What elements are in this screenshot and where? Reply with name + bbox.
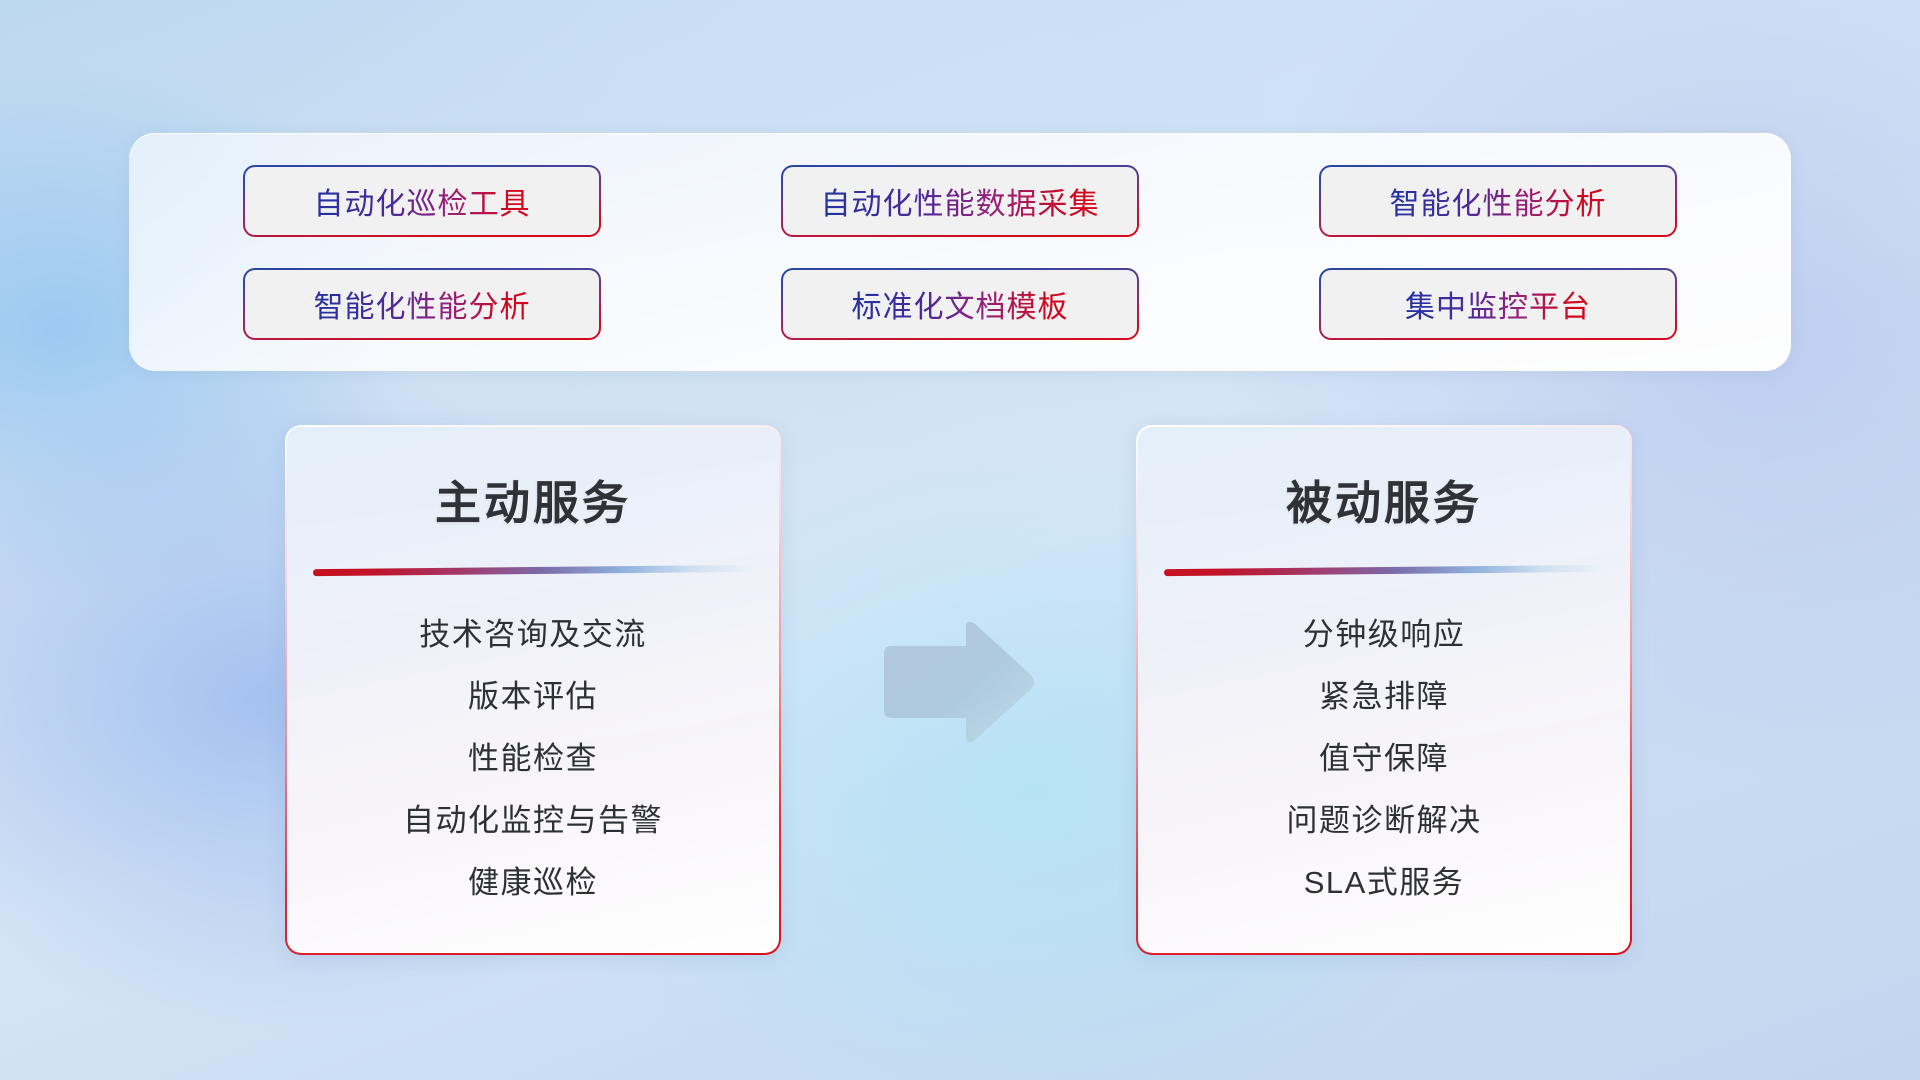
service-card-active: 主动服务 技术咨询及交流 版本评估 性能检查 自动化监控与告警 健康巡检 xyxy=(285,425,781,955)
capability-tag-label: 自动化性能数据采集 xyxy=(821,179,1100,223)
capability-tag-centralized-monitoring-platform[interactable]: 集中监控平台 xyxy=(1319,268,1677,340)
capability-panel: 自动化巡检工具 自动化性能数据采集 智能化性能分析 智能化性能分析 标准化文档模… xyxy=(129,133,1791,371)
capability-tag-intelligent-performance-analysis-2[interactable]: 智能化性能分析 xyxy=(243,268,601,340)
service-item-list-active: 技术咨询及交流 版本评估 性能检查 自动化监控与告警 健康巡检 xyxy=(313,592,753,929)
list-item: 问题诊断解决 xyxy=(1287,795,1482,840)
list-item: 紧急排障 xyxy=(1319,671,1449,716)
list-item: 自动化监控与告警 xyxy=(403,795,663,840)
card-title-passive-service: 被动服务 xyxy=(1286,467,1482,533)
capability-tag-automated-inspection-tool[interactable]: 自动化巡检工具 xyxy=(243,165,601,237)
list-item: 版本评估 xyxy=(468,671,598,716)
list-item: 值守保障 xyxy=(1319,733,1449,778)
capability-tag-standardized-document-template[interactable]: 标准化文档模板 xyxy=(781,268,1139,340)
capability-tag-label: 集中监控平台 xyxy=(1405,282,1591,326)
capability-tag-label: 智能化性能分析 xyxy=(314,282,531,326)
capability-tag-label: 智能化性能分析 xyxy=(1390,179,1607,223)
card-divider xyxy=(313,565,753,576)
capability-tag-label: 标准化文档模板 xyxy=(852,282,1069,326)
list-item: 技术咨询及交流 xyxy=(419,609,647,654)
capability-tag-label: 自动化巡检工具 xyxy=(314,179,531,223)
arrow-right-icon xyxy=(874,618,1036,746)
flow-arrow xyxy=(874,618,1036,746)
slide-canvas: 自动化巡检工具 自动化性能数据采集 智能化性能分析 智能化性能分析 标准化文档模… xyxy=(0,0,1920,1080)
list-item: 分钟级响应 xyxy=(1303,609,1466,654)
list-item: SLA式服务 xyxy=(1304,857,1465,902)
card-title-active-service: 主动服务 xyxy=(435,467,631,533)
service-card-passive: 被动服务 分钟级响应 紧急排障 值守保障 问题诊断解决 SLA式服务 xyxy=(1136,425,1632,955)
capability-tag-automated-performance-data-collection[interactable]: 自动化性能数据采集 xyxy=(781,165,1139,237)
list-item: 健康巡检 xyxy=(468,857,598,902)
card-divider xyxy=(1164,565,1604,576)
service-item-list-passive: 分钟级响应 紧急排障 值守保障 问题诊断解决 SLA式服务 xyxy=(1164,592,1604,929)
list-item: 性能检查 xyxy=(468,733,598,778)
capability-tag-intelligent-performance-analysis[interactable]: 智能化性能分析 xyxy=(1319,165,1677,237)
